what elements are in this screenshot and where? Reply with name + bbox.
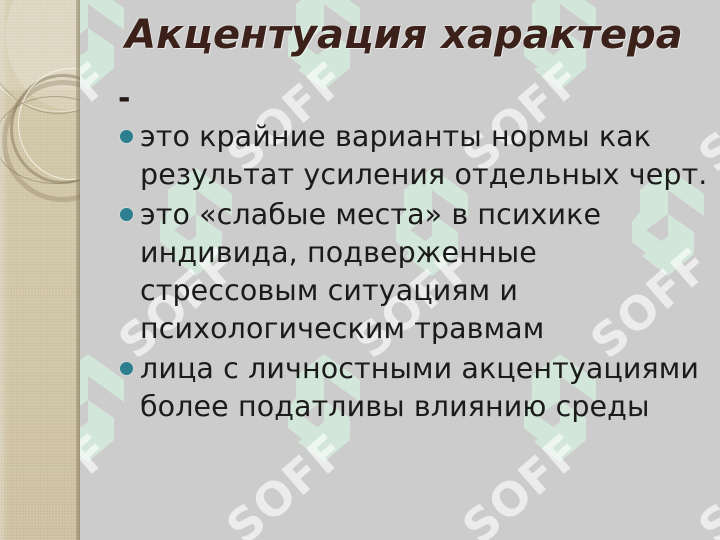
- slide-decorative-sidebar: [0, 0, 80, 540]
- watermark-tile: SOFF: [630, 518, 720, 540]
- watermark-tile: SOFF: [80, 518, 158, 540]
- watermark-text: SOFF: [688, 423, 720, 540]
- title-dash: -: [118, 84, 129, 114]
- bullet-text: это крайние варианты нормы как результат…: [140, 118, 710, 194]
- bullet-text: это «слабые места» в психике индивида, п…: [140, 196, 710, 348]
- bullet-item: это крайние варианты нормы как результат…: [112, 118, 710, 194]
- bullet-item: это «слабые места» в психике индивида, п…: [112, 196, 710, 348]
- sidebar-arc-thin-icon: [0, 96, 80, 184]
- slide-body-bullet-list: это крайние варианты нормы как результат…: [112, 118, 710, 428]
- watermark-text: SOFF: [452, 423, 592, 540]
- bullet-item: лица с личностными акцентуациями более п…: [112, 350, 710, 426]
- sidebar-right-edge: [76, 0, 80, 540]
- presentation-slide: SOFFSOFFSOFFSOFFSOFFSOFFSOFFSOFFSOFFSOFF…: [0, 0, 720, 540]
- watermark-text: SOFF: [216, 423, 356, 540]
- watermark-tile: SOFF: [394, 518, 630, 540]
- bullet-text: лица с личностными акцентуациями более п…: [140, 350, 710, 426]
- slide-title: Акцентуация характера: [104, 14, 704, 56]
- bullet-dot-icon: [120, 362, 133, 375]
- watermark-text: SOFF: [80, 423, 120, 540]
- bullet-dot-icon: [120, 208, 133, 221]
- sidebar-left-edge: [0, 0, 5, 540]
- watermark-tile: SOFF: [158, 518, 394, 540]
- bullet-dot-icon: [120, 130, 133, 143]
